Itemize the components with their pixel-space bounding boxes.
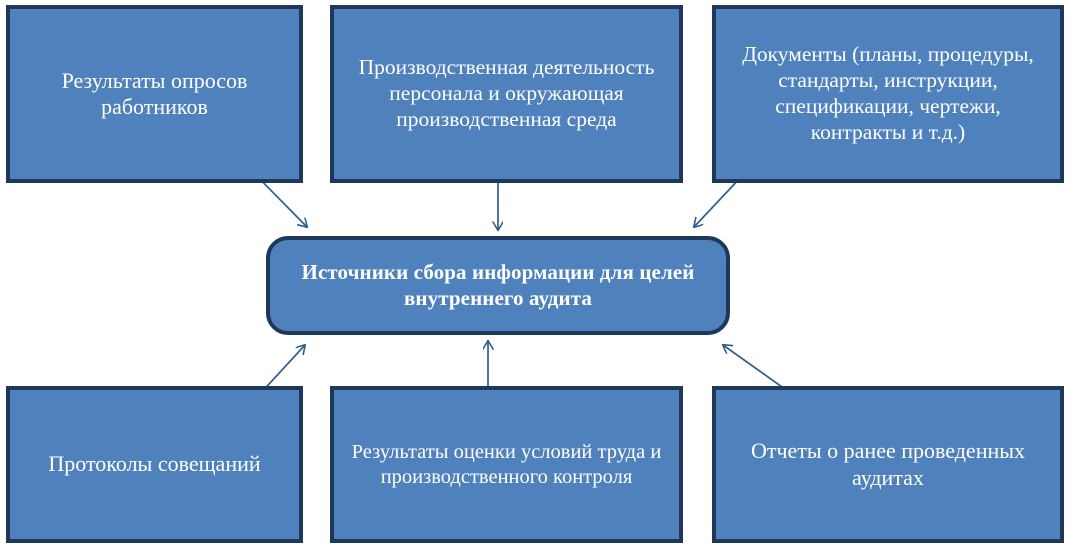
node-documents-label: Документы (планы, процедуры, стандарты, …	[724, 42, 1051, 145]
node-center-information-sources-label: Источники сбора информации для целей вну…	[282, 260, 715, 310]
node-production-activity-label: Производственная деятельность персонала …	[342, 55, 670, 132]
node-survey-results[interactable]: Результаты опросов работников	[6, 5, 303, 183]
node-working-conditions-assessment[interactable]: Результаты оценки условий труда и произв…	[330, 386, 683, 543]
node-production-activity[interactable]: Производственная деятельность персонала …	[330, 5, 683, 183]
node-documents[interactable]: Документы (планы, процедуры, стандарты, …	[712, 5, 1064, 183]
node-previous-audit-reports-label: Отчеты о ранее проведенных аудитах	[724, 438, 1051, 491]
node-survey-results-label: Результаты опросов работников	[17, 68, 293, 121]
node-working-conditions-assessment-label: Результаты оценки условий труда и произв…	[342, 440, 670, 489]
node-meeting-minutes[interactable]: Протоколы совещаний	[6, 386, 303, 543]
node-meeting-minutes-label: Протоколы совещаний	[17, 451, 293, 477]
node-previous-audit-reports[interactable]: Отчеты о ранее проведенных аудитах	[712, 386, 1064, 543]
diagram-canvas: Результаты опросов работников Производст…	[0, 0, 1069, 556]
node-center-information-sources[interactable]: Источники сбора информации для целей вну…	[266, 236, 730, 335]
